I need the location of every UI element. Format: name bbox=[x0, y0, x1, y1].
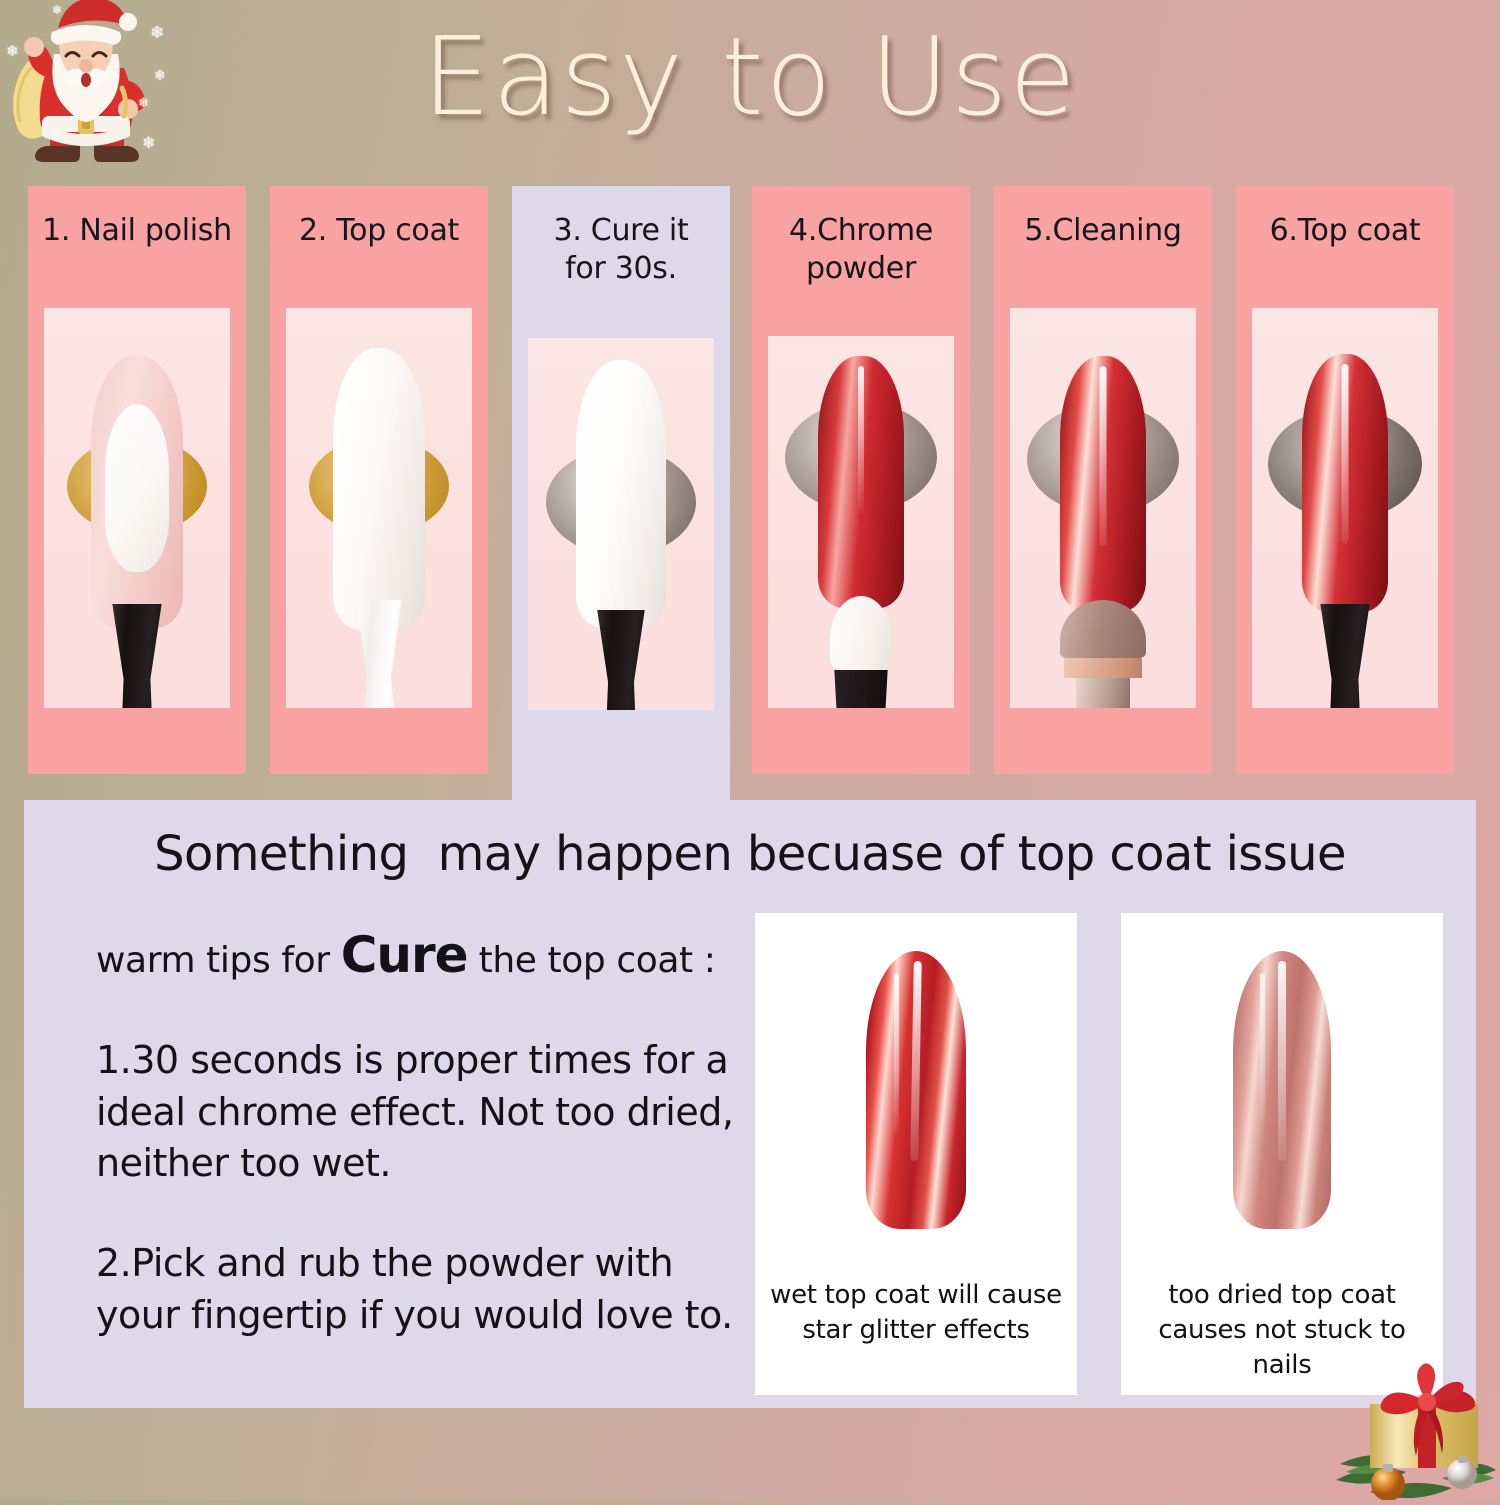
steps-row: 1. Nail polish 2. Top coat 3. Cure it fo… bbox=[0, 186, 1500, 786]
step-panel-3[interactable]: 3. Cure it for 30s. bbox=[512, 186, 730, 811]
dusting-brush-icon bbox=[1060, 600, 1146, 708]
finished-red-chrome-nail-image bbox=[1252, 308, 1438, 708]
red-chrome-glitter-nail-image bbox=[768, 336, 954, 708]
comparison-card-dried[interactable]: too dried top coat causes not stuck to n… bbox=[1121, 913, 1443, 1395]
dull-pink-chrome-nail-image bbox=[1121, 913, 1443, 1278]
black-polish-brush-icon bbox=[1317, 604, 1373, 708]
step-label: 4.Chrome powder bbox=[763, 212, 959, 289]
step-label: 3. Cure it for 30s. bbox=[523, 212, 719, 289]
page-title: Easy to Use bbox=[0, 16, 1500, 140]
clear-top-coat-brush-icon bbox=[352, 600, 406, 708]
step-panel-4[interactable]: 4.Chrome powder bbox=[752, 186, 970, 774]
section-heading: Something may happen becuase of top coat… bbox=[24, 826, 1476, 882]
step-panel-2[interactable]: 2. Top coat bbox=[270, 186, 488, 774]
step-panel-6[interactable]: 6.Top coat bbox=[1236, 186, 1454, 774]
tips-lead-after: the top coat : bbox=[468, 940, 716, 981]
comparison-card-wet[interactable]: wet top coat will cause star glitter eff… bbox=[755, 913, 1077, 1395]
black-polish-brush-icon bbox=[594, 610, 648, 710]
step-label: 6.Top coat bbox=[1247, 212, 1443, 250]
tips-lead-strong: Cure bbox=[341, 926, 468, 984]
nail-with-white-polish-image bbox=[44, 308, 230, 708]
tips-lead-before: warm tips for bbox=[96, 940, 341, 981]
red-chrome-nail-image bbox=[1010, 308, 1196, 708]
step-label: 1. Nail polish bbox=[39, 212, 235, 250]
nail-with-top-coat-image bbox=[286, 308, 472, 708]
header: ❄ ❄ ❄ ❄ ❄ ❄ ❄ Easy to Use bbox=[0, 0, 1500, 180]
step-panel-1[interactable]: 1. Nail polish bbox=[28, 186, 246, 774]
christmas-gift-box-icon bbox=[1330, 1352, 1500, 1500]
tips-lead: warm tips for Cure the top coat : bbox=[96, 923, 756, 987]
vivid-red-chrome-nail-image bbox=[755, 913, 1077, 1278]
step-panel-5[interactable]: 5.Cleaning bbox=[994, 186, 1212, 774]
black-polish-brush-icon bbox=[109, 604, 165, 708]
warm-tips-block: warm tips for Cure the top coat : 1.30 s… bbox=[96, 923, 756, 1341]
tip-item-2: 2.Pick and rub the powder with your fing… bbox=[96, 1238, 756, 1341]
step-label: 5.Cleaning bbox=[1005, 212, 1201, 250]
cured-white-nail-image bbox=[528, 338, 714, 710]
tip-item-1: 1.30 seconds is proper times for a ideal… bbox=[96, 1035, 756, 1190]
top-coat-issue-section: Something may happen becuase of top coat… bbox=[24, 800, 1476, 1408]
snowflake-icon: ❄ bbox=[52, 4, 62, 16]
comparison-caption: wet top coat will cause star glitter eff… bbox=[766, 1278, 1066, 1348]
white-sponge-applicator-icon bbox=[830, 596, 892, 708]
step-label: 2. Top coat bbox=[281, 212, 477, 250]
